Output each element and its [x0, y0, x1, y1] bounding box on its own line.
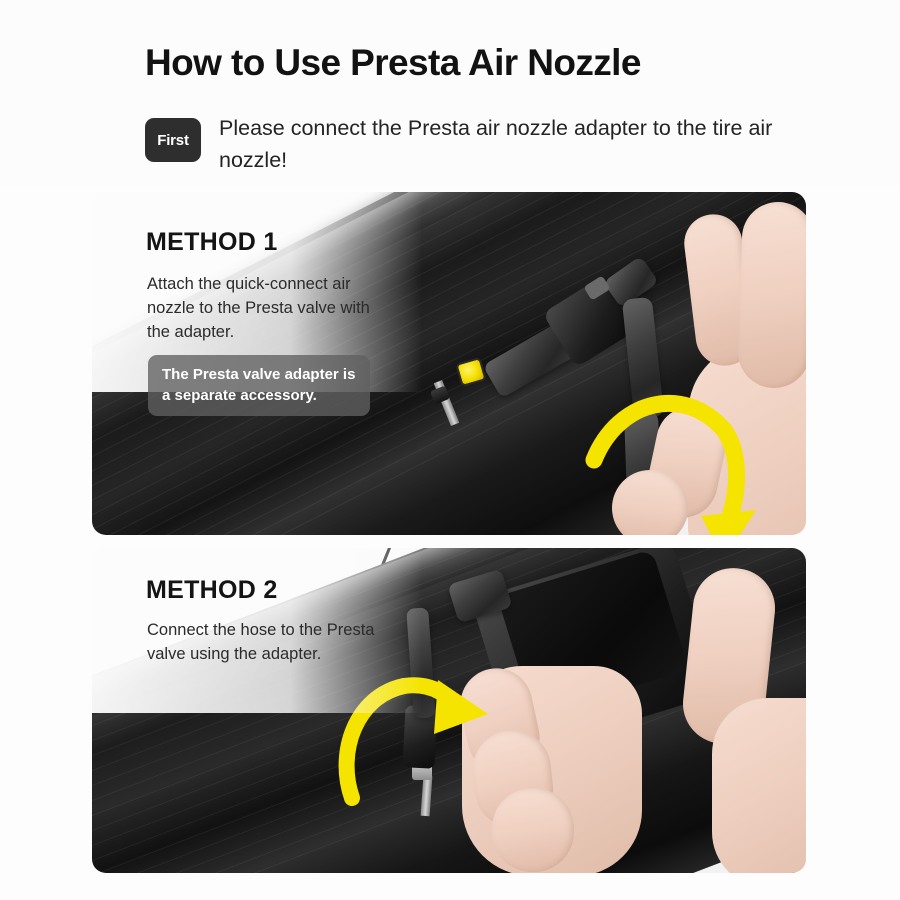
product-instruction-page: How to Use Presta Air Nozzle First Pleas… [0, 0, 900, 900]
method-1-title: METHOD 1 [146, 228, 278, 257]
thumb [737, 201, 806, 389]
method-2-title: METHOD 2 [146, 576, 278, 605]
method-1-description: Attach the quick-connect air nozzle to t… [147, 272, 397, 344]
first-step-badge: First [145, 118, 201, 162]
wrist [712, 698, 806, 873]
curved-down-arrow-icon [588, 382, 788, 535]
first-step-instruction: Please connect the Presta air nozzle ada… [219, 112, 779, 176]
method-1-panel: METHOD 1 Attach the quick-connect air no… [92, 192, 806, 535]
method-2-description: Connect the hose to the Presta valve usi… [147, 618, 409, 666]
method-1-photo: METHOD 1 Attach the quick-connect air no… [92, 192, 806, 535]
page-header: How to Use Presta Air Nozzle First Pleas… [0, 0, 900, 186]
page-title: How to Use Presta Air Nozzle [145, 42, 641, 84]
method-1-note: The Presta valve adapter is a separate a… [148, 355, 370, 416]
method-2-panel: METHOD 2 Connect the hose to the Presta … [92, 548, 806, 873]
method-2-photo: METHOD 2 Connect the hose to the Presta … [92, 548, 806, 873]
